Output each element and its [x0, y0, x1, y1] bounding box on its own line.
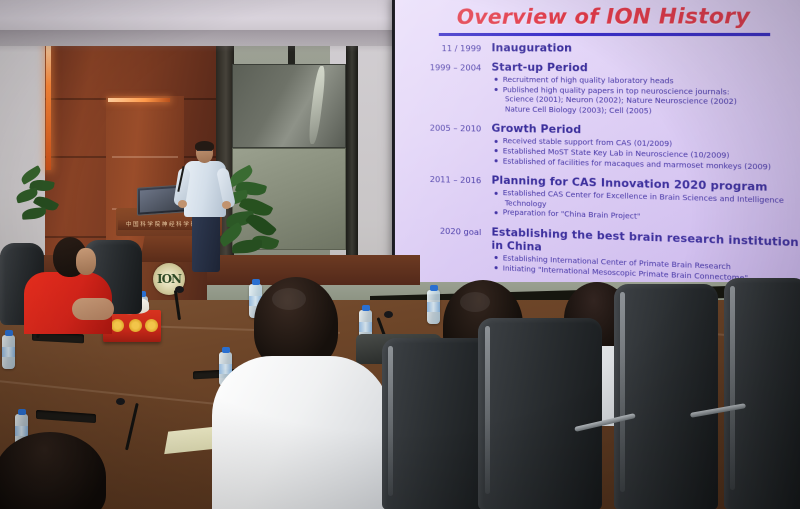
projection-screen: Overview of ION History 11 / 1999 Inaugu… — [395, 0, 800, 308]
led-light-strip — [46, 40, 51, 170]
slide-row-heading: Inauguration — [491, 42, 799, 56]
speaker-right-hand — [222, 201, 231, 209]
slide-title: Overview of ION History — [437, 3, 773, 29]
slide-bullet-list: Received stable support from CAS (01/200… — [491, 136, 799, 172]
ion-seal-label: ION — [157, 272, 181, 286]
water-bottle — [427, 290, 440, 324]
slide-row: 11 / 1999 Inauguration — [409, 42, 800, 56]
slide-body: 11 / 1999 Inauguration 1999 – 2004 Start… — [409, 42, 800, 303]
chair-highlight — [620, 292, 625, 492]
slide-row-year: 2011 – 2016 — [409, 173, 492, 218]
attendee-torso — [212, 356, 390, 509]
slide-title-underline — [439, 33, 770, 36]
slide-row-content: Start-up Period Recruitment of high qual… — [491, 61, 799, 117]
ceiling-shadow — [0, 30, 430, 52]
glasses-icon — [197, 150, 212, 155]
speaker-left-hand — [178, 200, 187, 208]
slide-row-year: 2020 goal — [409, 223, 492, 272]
slide-row: 2005 – 2010 Growth Period Received stabl… — [409, 122, 800, 173]
slide-row-content: Establishing the best brain research ins… — [491, 226, 799, 285]
attendee-hands — [72, 298, 114, 320]
water-bottle — [2, 335, 15, 369]
chair — [478, 318, 602, 509]
podium-neck — [140, 236, 198, 262]
projection-screen-frame: Overview of ION History 11 / 1999 Inaugu… — [392, 0, 800, 315]
slide-row-content: Growth Period Received stable support fr… — [491, 123, 799, 172]
slide-bullet-list: Recruitment of high quality laboratory h… — [491, 75, 799, 118]
attendee-face — [76, 248, 96, 275]
slide-row-content: Inauguration — [491, 42, 799, 56]
chair-highlight — [485, 326, 490, 494]
slide-row: 1999 – 2004 Start-up Period Recruitment … — [409, 61, 800, 118]
led-light-strip-secondary — [108, 98, 170, 102]
speaker-legs — [192, 214, 220, 272]
slide-row-year: 11 / 1999 — [409, 42, 492, 55]
slide-row-content: Planning for CAS Innovation 2020 program… — [491, 175, 799, 227]
chair — [724, 278, 800, 509]
slide-row-year: 1999 – 2004 — [409, 61, 492, 114]
wall-display-screen — [232, 64, 346, 148]
slide-row-year: 2005 – 2010 — [409, 122, 492, 166]
chair-highlight — [388, 346, 393, 496]
chair — [614, 284, 718, 509]
chair-highlight — [730, 286, 735, 490]
presentation-room-photo: Overview of ION History 11 / 1999 Inaugu… — [0, 0, 800, 509]
